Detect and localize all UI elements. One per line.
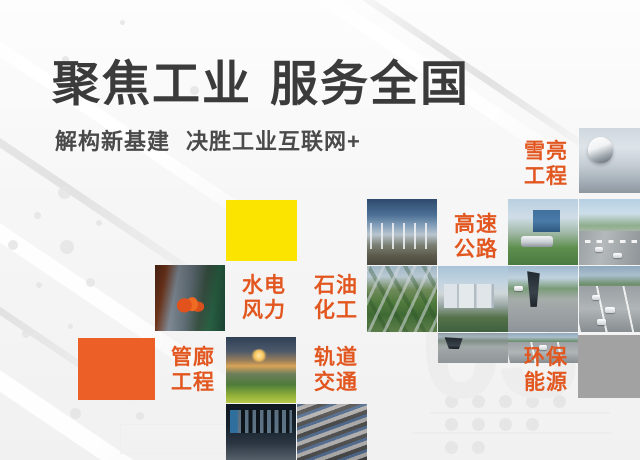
control-room-photo [226, 404, 296, 460]
page-title: 聚焦工业服务全国 [52, 57, 470, 113]
decorative-dot [70, 408, 81, 419]
decorative-dot [472, 441, 485, 454]
car-marker [605, 307, 615, 313]
car-marker [592, 295, 600, 300]
category-label-line2: 风力 [236, 298, 292, 323]
category-label-expressway: 高速 公路 [448, 212, 504, 262]
category-label-line1: 高速 [448, 212, 504, 237]
orange-block-tile [78, 338, 155, 400]
decorative-dot [96, 220, 102, 226]
decorative-dot [8, 240, 18, 250]
diagonal-streak [0, 420, 168, 460]
highway-camera-closeup-photo [438, 333, 508, 363]
category-label-line2: 公路 [448, 237, 504, 262]
highway-traffic-photo [579, 266, 640, 332]
category-label-line2: 交通 [308, 370, 364, 395]
page-subtitle-part1: 解构新基建 [55, 129, 170, 154]
category-label-line2: 能源 [518, 370, 574, 395]
decorative-dot [60, 240, 74, 254]
category-label-line1: 水电 [236, 273, 292, 298]
category-label-rail-transit: 轨道 交通 [308, 345, 364, 395]
page-subtitle-part2: 决胜工业互联网+ [186, 129, 361, 154]
decorative-dot [445, 441, 458, 454]
category-label-line1: 管廊 [165, 345, 221, 370]
category-label-hydro-wind: 水电 风力 [236, 273, 292, 323]
poster-canvas: 03 聚焦工业服务全国 解构新基建决胜工业互联网+ 水电 风力 石油 [0, 0, 640, 460]
category-label-line1: 雪亮 [518, 139, 574, 164]
decorative-dot [22, 330, 30, 338]
car-marker [514, 286, 523, 291]
category-label-line2: 工程 [518, 164, 574, 189]
parking-lot-photo [297, 404, 367, 460]
watermark-rule [412, 432, 612, 434]
page-subtitle: 解构新基建决胜工业互联网+ [55, 128, 361, 156]
category-label-eco-energy: 环保 能源 [518, 345, 574, 395]
highway-overview-photo [579, 199, 640, 265]
decorative-dot [136, 412, 144, 420]
gray-block-tile [578, 335, 640, 398]
car-marker [597, 319, 606, 325]
decorative-dot [68, 324, 73, 329]
decorative-dot [58, 186, 71, 199]
decorative-dot [86, 278, 95, 287]
category-label-petro-chem: 石油 化工 [308, 273, 364, 323]
category-label-bright-project: 雪亮 工程 [518, 139, 574, 189]
category-label-line1: 轨道 [308, 345, 364, 370]
highway-camera-pole-photo [508, 266, 578, 332]
traffic-camera-city-photo [508, 199, 578, 265]
category-label-pipe-gallery: 管廊 工程 [165, 345, 221, 395]
page-title-part1: 聚焦工业 [52, 58, 252, 111]
green-city-aerial-photo [367, 266, 437, 332]
category-label-line2: 工程 [165, 370, 221, 395]
wind-turbines-photo [367, 199, 437, 265]
industrial-campus-photo [438, 266, 508, 332]
dome-surveillance-camera-photo [579, 128, 640, 193]
construction-workers-photo [155, 265, 225, 331]
car-marker [595, 247, 603, 252]
yellow-block-tile [226, 200, 297, 261]
decorative-dot [120, 20, 125, 25]
decorative-dot [34, 212, 41, 219]
sunset-wetland-photo [226, 337, 296, 403]
watermark-box [120, 424, 242, 454]
page-title-part2: 服务全国 [270, 58, 470, 111]
car-marker [613, 253, 622, 258]
decorative-dot [36, 282, 42, 288]
category-label-line2: 化工 [308, 298, 364, 323]
category-label-line1: 石油 [308, 273, 364, 298]
car-marker [539, 345, 547, 350]
